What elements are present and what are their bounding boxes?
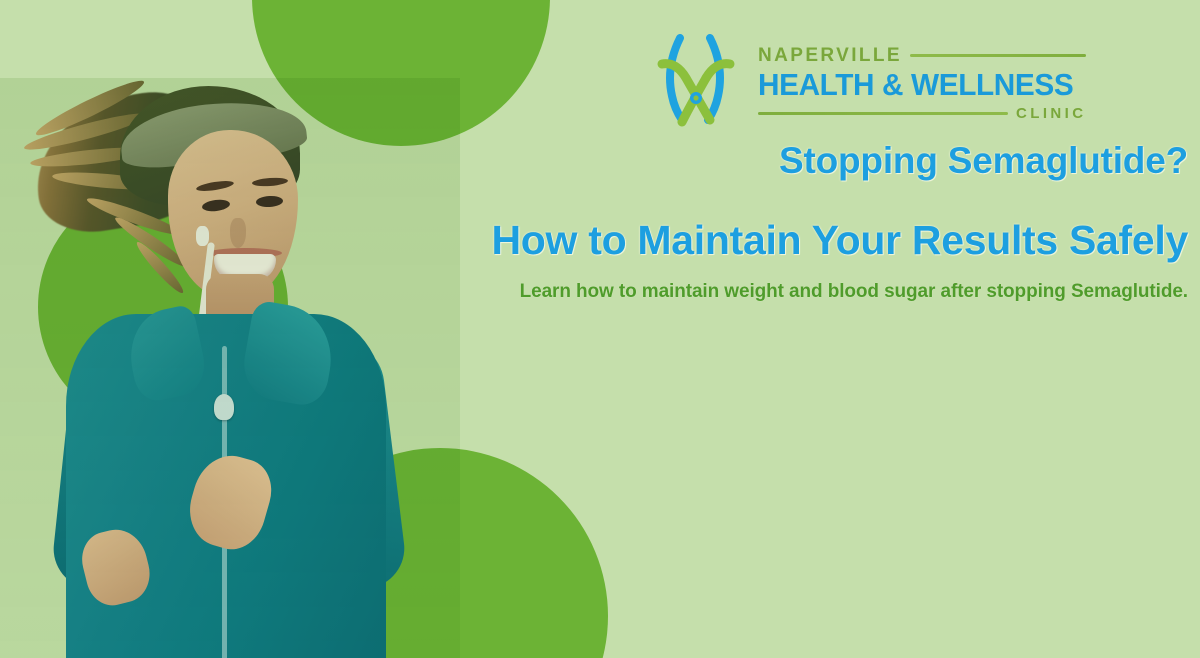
logo-rule-top bbox=[910, 54, 1086, 57]
nose bbox=[230, 218, 246, 248]
logo-rule-bottom bbox=[758, 112, 1008, 115]
headline-block: Stopping Semaglutide? How to Maintain Yo… bbox=[488, 140, 1188, 304]
logo-wordmark: NAPERVILLE HEALTH & WELLNESS CLINIC bbox=[758, 43, 1086, 126]
logo-line-naperville: NAPERVILLE bbox=[758, 46, 902, 65]
logo-bottom-row: CLINIC bbox=[758, 101, 1086, 125]
logo-top-row: NAPERVILLE bbox=[758, 43, 1086, 69]
promo-banner: NAPERVILLE HEALTH & WELLNESS CLINIC Stop… bbox=[0, 0, 1200, 658]
logo-mark-icon bbox=[648, 34, 744, 134]
headline-secondary: How to Maintain Your Results Safely bbox=[488, 217, 1188, 264]
clinic-logo[interactable]: NAPERVILLE HEALTH & WELLNESS CLINIC bbox=[648, 32, 992, 136]
headline-primary: Stopping Semaglutide? bbox=[488, 140, 1188, 183]
logo-line-health-wellness: HEALTH & WELLNESS bbox=[758, 69, 1073, 102]
runner-photo bbox=[0, 78, 460, 658]
subheadline: Learn how to maintain weight and blood s… bbox=[488, 280, 1188, 305]
logo-line-clinic: CLINIC bbox=[1016, 106, 1086, 121]
zipper-pull bbox=[214, 394, 234, 420]
